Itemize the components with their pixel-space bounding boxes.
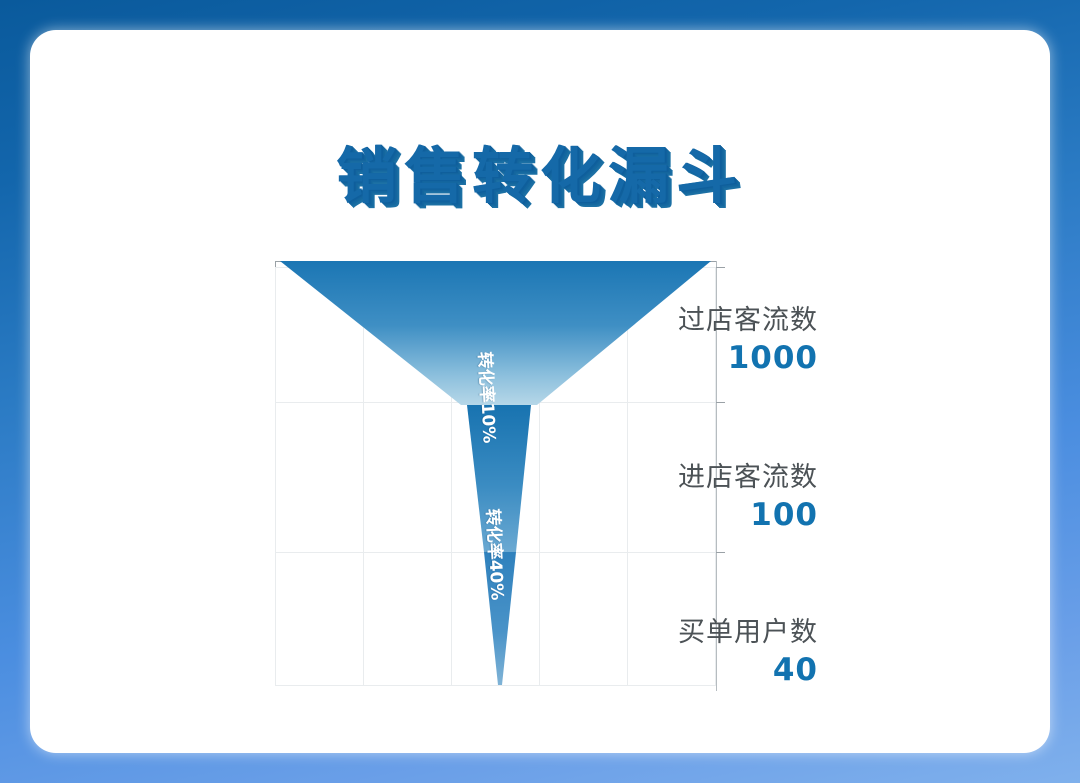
stage-label: 过店客流数 <box>518 306 818 336</box>
stage-annotation-0: 过店客流数 1000 <box>518 306 818 374</box>
stage-value: 1000 <box>518 342 818 375</box>
page-title-wrap: 销售转化漏斗 <box>30 126 1050 215</box>
stage-value: 100 <box>518 499 818 532</box>
page-title: 销售转化漏斗 <box>336 126 744 215</box>
stage-annotation-1: 进店客流数 100 <box>518 463 818 531</box>
stage-label: 进店客流数 <box>518 463 818 493</box>
stage-value: 40 <box>518 654 818 687</box>
axis-tick <box>716 402 725 403</box>
slide-card: 销售转化漏斗 <box>30 30 1050 753</box>
stage-annotation-2: 买单用户数 40 <box>518 618 818 686</box>
conversion-rate-label-1: 转化率10% <box>474 351 504 444</box>
conversion-rate-label-2: 转化率40% <box>482 508 512 601</box>
axis-tick <box>716 552 725 553</box>
axis-tick <box>716 267 725 268</box>
stage-label: 买单用户数 <box>518 618 818 648</box>
slide-background: 销售转化漏斗 <box>0 0 1080 783</box>
